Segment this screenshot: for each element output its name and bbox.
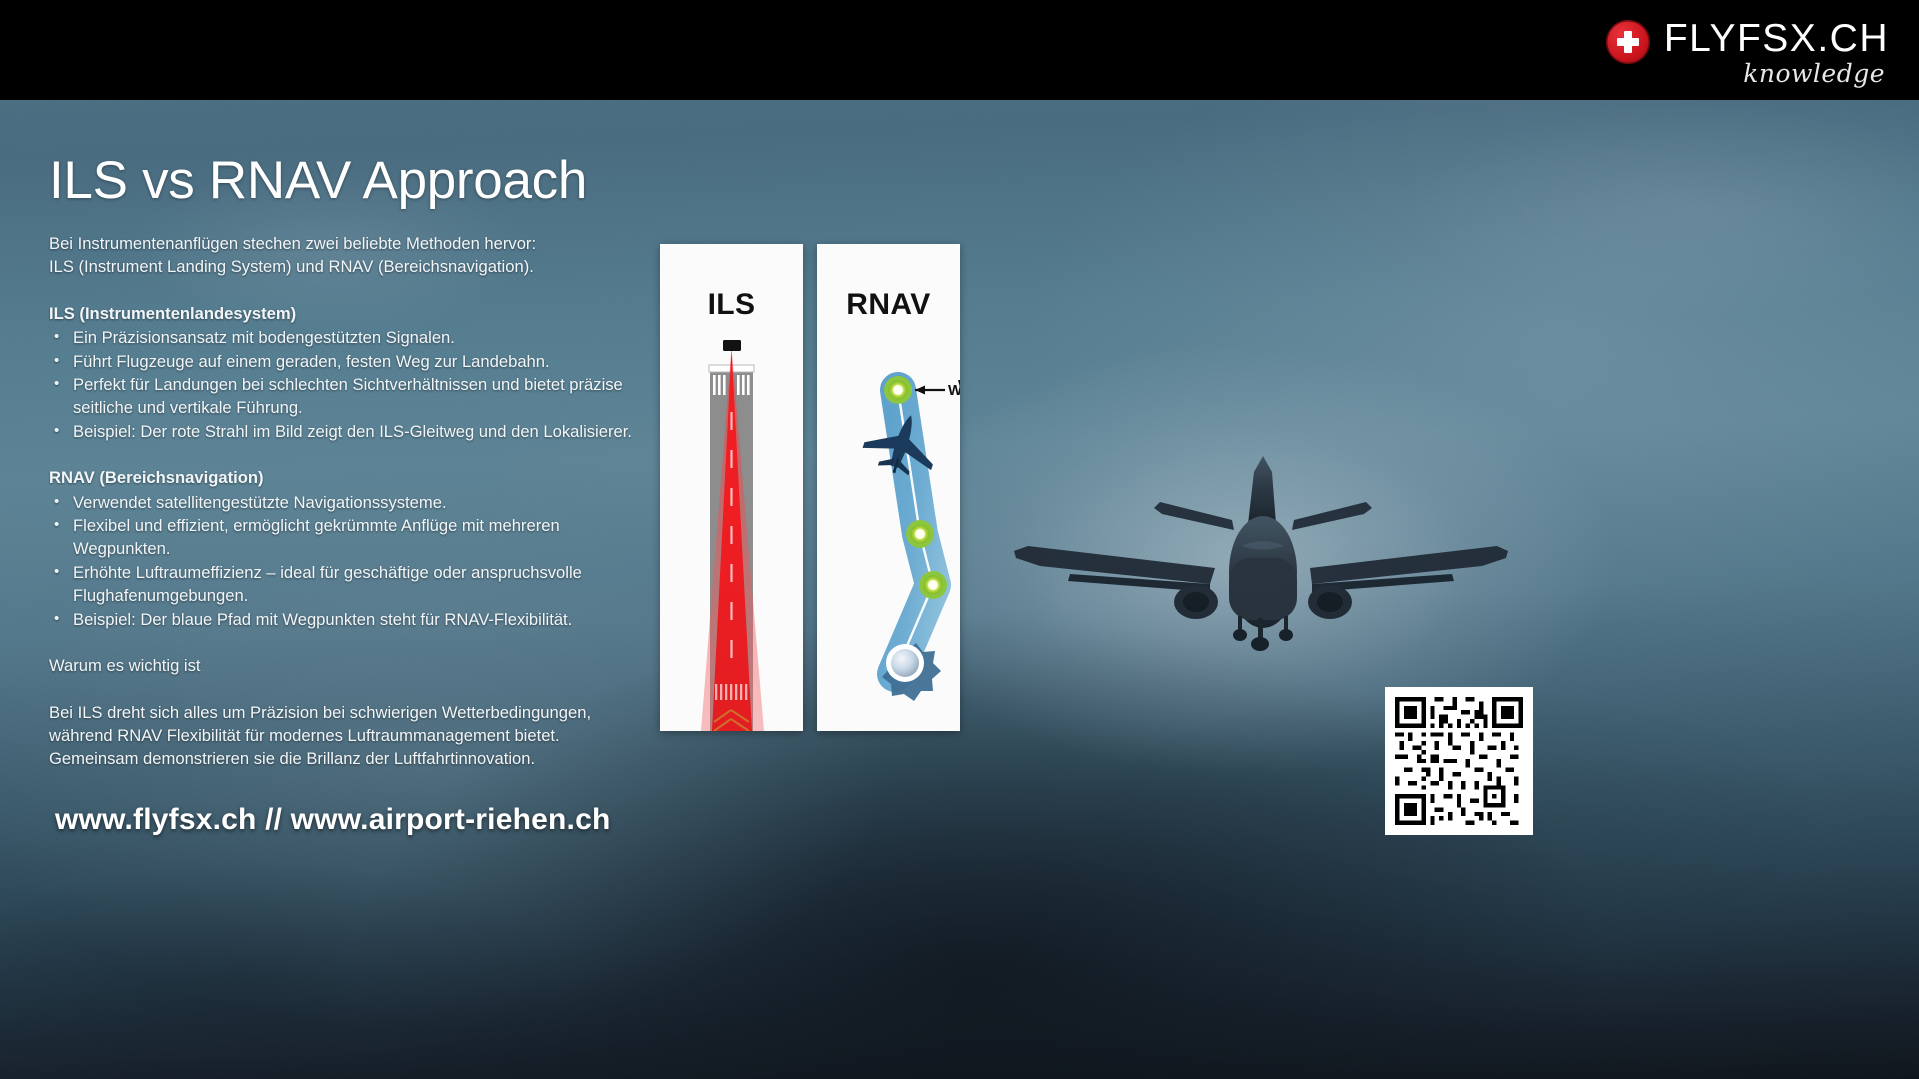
list-item: Beispiel: Der blaue Pfad mit Wegpunkten … xyxy=(49,608,659,631)
list-item: Verwendet satellitengestützte Navigation… xyxy=(49,491,659,514)
list-item: Erhöhte Luftraumeffizienz – ideal für ge… xyxy=(49,561,659,608)
brand-name: FLYFSX.CH xyxy=(1664,16,1889,62)
waypoint-marker xyxy=(906,520,934,548)
why-line-2: während RNAV Flexibilität für modernes L… xyxy=(49,724,659,747)
list-item: Führt Flugzeuge auf einem geraden, feste… xyxy=(49,350,659,373)
top-header-bar: FLYFSX.CH knowledge xyxy=(0,0,1919,100)
spacer xyxy=(49,631,659,654)
list-item: Flexibel und effizient, ermöglicht gekrü… xyxy=(49,514,659,561)
list-item: Perfekt für Landungen bei schlechten Sic… xyxy=(49,373,659,420)
spacer xyxy=(49,443,659,466)
qr-code xyxy=(1395,697,1523,825)
rnav-route-diagram: Waypoints xyxy=(817,244,960,731)
swiss-flag-circle-icon xyxy=(1606,20,1650,64)
qr-code-block[interactable] xyxy=(1385,687,1533,835)
intro-line-1: Bei Instrumentenanflügen stechen zwei be… xyxy=(49,232,659,255)
list-item: Ein Präzisionsansatz mit bodengestützten… xyxy=(49,326,659,349)
waypoints-label-overlay: Waypoints xyxy=(958,377,960,394)
why-section-paragraph: Bei ILS dreht sich alles um Präzision be… xyxy=(49,701,659,771)
rnav-section-heading: RNAV (Bereichsnavigation) xyxy=(49,466,659,489)
brand-tagline: knowledge xyxy=(1743,59,1885,89)
spacer xyxy=(49,279,659,302)
rnav-bullet-list: Verwendet satellitengestützte Navigation… xyxy=(49,491,659,631)
page-title: ILS vs RNAV Approach xyxy=(49,150,587,211)
ils-runway-beam-diagram xyxy=(660,244,803,731)
intro-line-2: ILS (Instrument Landing System) und RNAV… xyxy=(49,255,659,278)
intro-paragraph: Bei Instrumentenanflügen stechen zwei be… xyxy=(49,232,659,279)
why-line-1: Bei ILS dreht sich alles um Präzision be… xyxy=(49,701,659,724)
footer-urls[interactable]: www.flyfsx.ch // www.airport-riehen.ch xyxy=(55,803,610,837)
airplane-silhouette-photo xyxy=(1010,450,1510,680)
ils-bullet-list: Ein Präzisionsansatz mit bodengestützten… xyxy=(49,326,659,443)
rnav-diagram-panel: RNAV xyxy=(817,244,960,731)
ils-section-heading: ILS (Instrumentenlandesystem) xyxy=(49,302,659,325)
ils-diagram-panel: ILS xyxy=(660,244,803,731)
localizer-antenna-icon xyxy=(723,340,741,351)
airport-symbol-icon xyxy=(882,643,941,701)
diagram-panels: ILS xyxy=(660,244,960,731)
brand-logo[interactable]: FLYFSX.CH knowledge xyxy=(1606,16,1889,89)
why-line-3: Gemeinsam demonstrieren sie die Brillanz… xyxy=(49,747,659,770)
waypoint-marker xyxy=(919,571,947,599)
list-item: Beispiel: Der rote Strahl im Bild zeigt … xyxy=(49,420,659,443)
waypoint-marker xyxy=(884,376,912,404)
spacer xyxy=(49,678,659,701)
content-text-column: Bei Instrumentenanflügen stechen zwei be… xyxy=(49,232,659,771)
why-section-heading: Warum es wichtig ist xyxy=(49,654,659,677)
